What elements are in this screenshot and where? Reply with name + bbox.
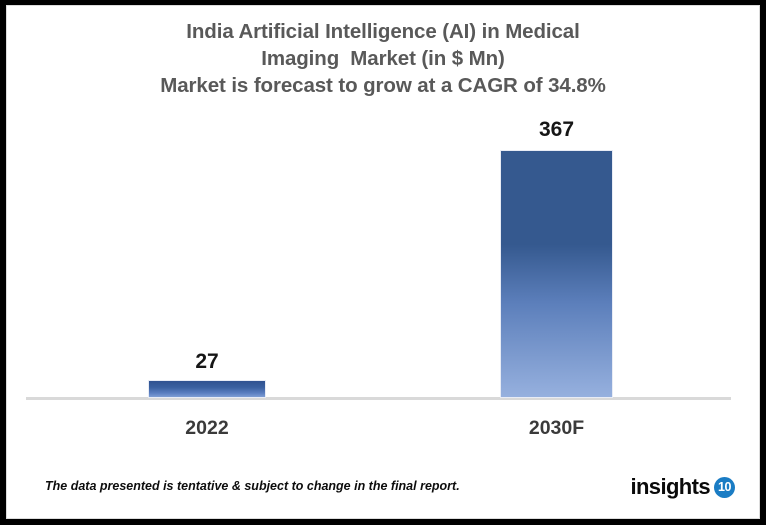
bar-2022[interactable] [148, 380, 266, 398]
disclaimer-text: The data presented is tentative & subjec… [45, 479, 460, 493]
logo-badge-icon: 10 [714, 477, 735, 498]
chart-frame: India Artificial Intelligence (AI) in Me… [0, 0, 766, 525]
insights10-logo: insights 10 [630, 476, 735, 498]
plot-area: 27 2022 367 2030F [7, 6, 759, 518]
bar-2030f[interactable] [500, 150, 613, 398]
chart-canvas: India Artificial Intelligence (AI) in Me… [6, 5, 760, 519]
bar-value-2022: 27 [148, 351, 266, 372]
logo-wordmark: insights [630, 476, 710, 498]
x-axis-line [26, 397, 731, 400]
category-label-2022: 2022 [148, 418, 266, 438]
category-label-2030f: 2030F [500, 418, 613, 438]
bar-value-2030f: 367 [500, 119, 613, 140]
